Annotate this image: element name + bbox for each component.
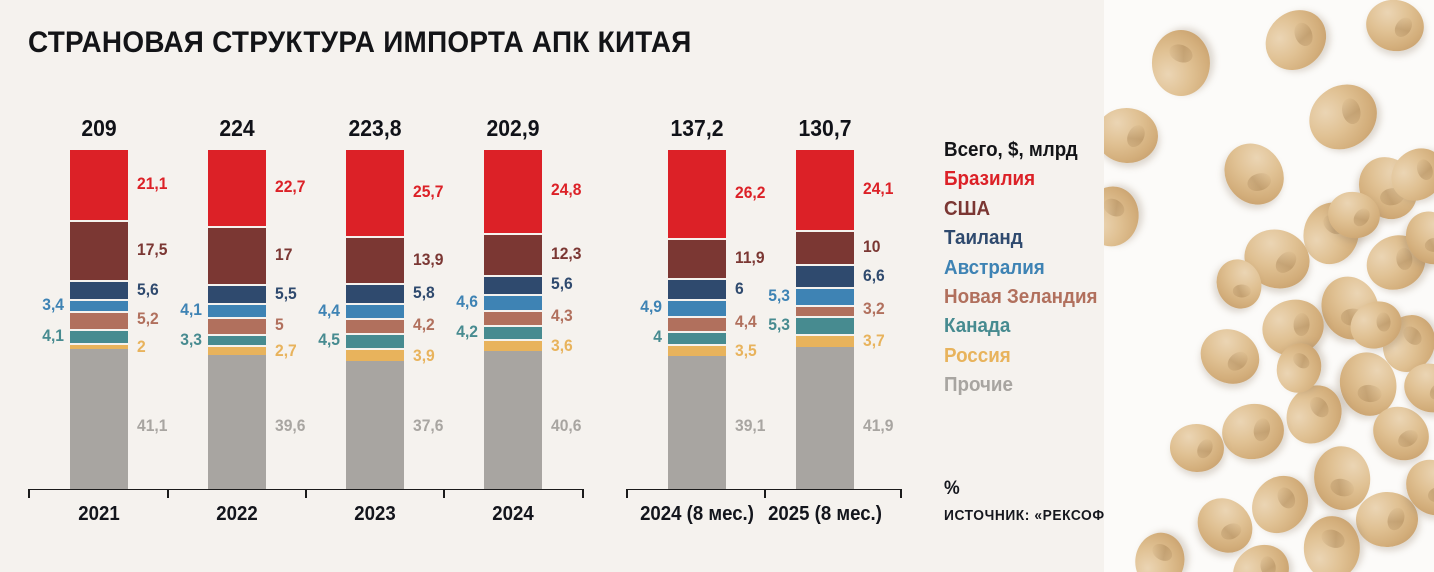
bar-segment (208, 226, 266, 284)
segment-value-label: 2,7 (275, 341, 297, 361)
bar-segment (208, 317, 266, 334)
segment-value-label: 4,2 (413, 315, 435, 335)
axis-end-tick (626, 489, 628, 498)
bar-segment (484, 351, 542, 490)
legend-item-0: Всего, $, млрд (944, 136, 1097, 165)
axis-tick (443, 489, 445, 498)
soybean (1168, 422, 1226, 474)
axis-tick (167, 489, 169, 498)
legend-item-8: Прочие (944, 371, 1097, 400)
soybean (1303, 516, 1360, 572)
segment-value-label: 37,6 (413, 416, 443, 436)
segment-value-label: 5,6 (137, 280, 159, 300)
bar-total-label: 202,9 (467, 115, 559, 142)
bar-segment (70, 311, 128, 329)
bar-segment (70, 343, 128, 350)
segment-value-label: 3,3 (163, 330, 202, 350)
x-axis-label: 2023 (302, 503, 449, 526)
legend-item-5: Новая Зеландия (944, 283, 1097, 312)
axis-end-tick (28, 489, 30, 498)
segment-value-label: 10 (863, 237, 880, 257)
bar-segment (346, 148, 404, 236)
axis-end-tick (582, 489, 584, 498)
segment-value-label: 4,3 (551, 306, 573, 326)
legend-item-4: Австралия (944, 254, 1097, 283)
bar-segment (796, 287, 854, 305)
bar-segment (668, 356, 726, 490)
segment-value-label: 4,9 (623, 297, 662, 317)
bar-segment (346, 333, 404, 348)
soybean (1253, 0, 1338, 83)
segment-value-label: 4,4 (301, 301, 340, 321)
bar-segment (208, 303, 266, 317)
segment-value-label: 25,7 (413, 182, 443, 202)
segment-value-label: 12,3 (551, 244, 581, 264)
segment-value-label: 3,6 (551, 336, 573, 356)
segment-value-label: 5,2 (137, 309, 159, 329)
bar-segment (668, 316, 726, 331)
segment-value-label: 39,1 (735, 416, 765, 436)
segment-value-label: 4,1 (25, 326, 64, 346)
legend-item-3: Таиланд (944, 224, 1097, 253)
bar-segment (346, 318, 404, 332)
bar-segment (346, 236, 404, 284)
segment-value-label: 3,9 (413, 346, 435, 366)
soybean (1297, 71, 1390, 162)
segment-value-label: 17 (275, 245, 292, 265)
segment-value-label: 6,6 (863, 266, 885, 286)
segment-value-label: 22,7 (275, 177, 305, 197)
chart-area: 20921,117,55,65,2241,13,44,1202122422,71… (0, 0, 930, 572)
segment-value-label: 3,5 (735, 341, 757, 361)
segment-value-label: 13,9 (413, 250, 443, 270)
segment-value-label: 5,8 (413, 283, 435, 303)
segment-value-label: 3,7 (863, 331, 885, 351)
segment-value-label: 40,6 (551, 416, 581, 436)
segment-value-label: 5,3 (751, 315, 790, 335)
segment-value-label: 5,6 (551, 274, 573, 294)
bar-segment (484, 339, 542, 351)
soybean (1217, 399, 1288, 464)
segment-value-label: 2 (137, 337, 146, 357)
bar-segment (70, 220, 128, 280)
soybean (1104, 106, 1160, 165)
bar-segment (668, 278, 726, 299)
segment-value-label: 41,9 (863, 416, 893, 436)
segment-value-label: 11,9 (735, 248, 765, 268)
segment-value-label: 3,4 (25, 295, 64, 315)
axis-end-tick (900, 489, 902, 498)
soybean (1104, 183, 1142, 250)
x-axis-label: 2024 (8 мес.) (624, 503, 771, 526)
units-label: % (944, 478, 960, 500)
segment-value-label: 17,5 (137, 240, 167, 260)
bar-segment (484, 325, 542, 339)
bar-2022 (208, 148, 266, 490)
segment-value-label: 5 (275, 315, 284, 335)
soybean (1212, 132, 1296, 217)
bar-segment (70, 148, 128, 220)
bar-segment (70, 349, 128, 490)
bar-2021 (70, 148, 128, 490)
bar-segment (668, 344, 726, 356)
segment-value-label: 5,3 (751, 286, 790, 306)
segment-value-label: 6 (735, 279, 744, 299)
bar-total-label: 224 (191, 115, 283, 142)
segment-value-label: 4 (623, 327, 662, 347)
segment-value-label: 4,1 (163, 300, 202, 320)
axis-tick (764, 489, 766, 498)
soybean (1131, 529, 1188, 572)
bar-segment (346, 303, 404, 318)
soybean (1361, 0, 1428, 57)
bar-segment (796, 305, 854, 316)
soybean (1191, 319, 1269, 394)
bar-segment (796, 148, 854, 230)
bar-segment (796, 334, 854, 347)
segment-value-label: 4,6 (439, 292, 478, 312)
bar-segment (796, 347, 854, 490)
bar-segment (208, 355, 266, 490)
segment-value-label: 26,2 (735, 183, 765, 203)
bar-segment (668, 331, 726, 345)
bar-segment (70, 329, 128, 343)
chart-legend: Всего, $, млрдБразилияСШАТаиландАвстрали… (944, 136, 1107, 401)
bar-segment (208, 148, 266, 226)
bar-segment (484, 148, 542, 233)
bar-segment (70, 299, 128, 311)
bar-segment (346, 283, 404, 303)
bar-segment (668, 238, 726, 279)
bar-20248-8m (668, 148, 726, 490)
soybean (1152, 30, 1210, 96)
segment-value-label: 4,2 (439, 322, 478, 342)
bar-2024 (484, 148, 542, 490)
soybean-photo (1104, 0, 1434, 572)
bar-segment (208, 284, 266, 303)
bar-segment (484, 310, 542, 325)
bar-segment (668, 148, 726, 238)
legend-item-6: Канада (944, 312, 1097, 341)
bar-segment (346, 348, 404, 361)
segment-value-label: 41,1 (137, 416, 167, 436)
x-axis-label: 2024 (440, 503, 587, 526)
bar-segment (796, 264, 854, 287)
bar-segment (668, 299, 726, 316)
bar-total-label: 137,2 (651, 115, 743, 142)
bar-segment (484, 233, 542, 275)
legend-item-1: Бразилия (944, 165, 1097, 194)
axis-tick (305, 489, 307, 498)
segment-value-label: 21,1 (137, 174, 167, 194)
legend-item-7: Россия (944, 342, 1097, 371)
x-axis-label: 2022 (164, 503, 311, 526)
segment-value-label: 24,1 (863, 179, 893, 199)
bar-segment (346, 361, 404, 490)
bar-segment (796, 230, 854, 264)
segment-value-label: 5,5 (275, 284, 297, 304)
bar-segment (208, 334, 266, 345)
segment-value-label: 39,6 (275, 416, 305, 436)
segment-value-label: 3,2 (863, 299, 885, 319)
segment-value-label: 24,8 (551, 180, 581, 200)
bar-segment (70, 280, 128, 299)
bar-20258-8m (796, 148, 854, 490)
x-axis-label: 2021 (26, 503, 173, 526)
bar-segment (484, 275, 542, 294)
bar-total-label: 223,8 (329, 115, 421, 142)
bar-total-label: 130,7 (779, 115, 871, 142)
bar-2023 (346, 148, 404, 490)
bar-segment (484, 294, 542, 310)
x-axis-label: 2025 (8 мес.) (752, 503, 899, 526)
bar-segment (208, 345, 266, 354)
bar-total-label: 209 (53, 115, 145, 142)
legend-item-2: США (944, 195, 1097, 224)
bar-segment (796, 316, 854, 334)
segment-value-label: 4,5 (301, 330, 340, 350)
